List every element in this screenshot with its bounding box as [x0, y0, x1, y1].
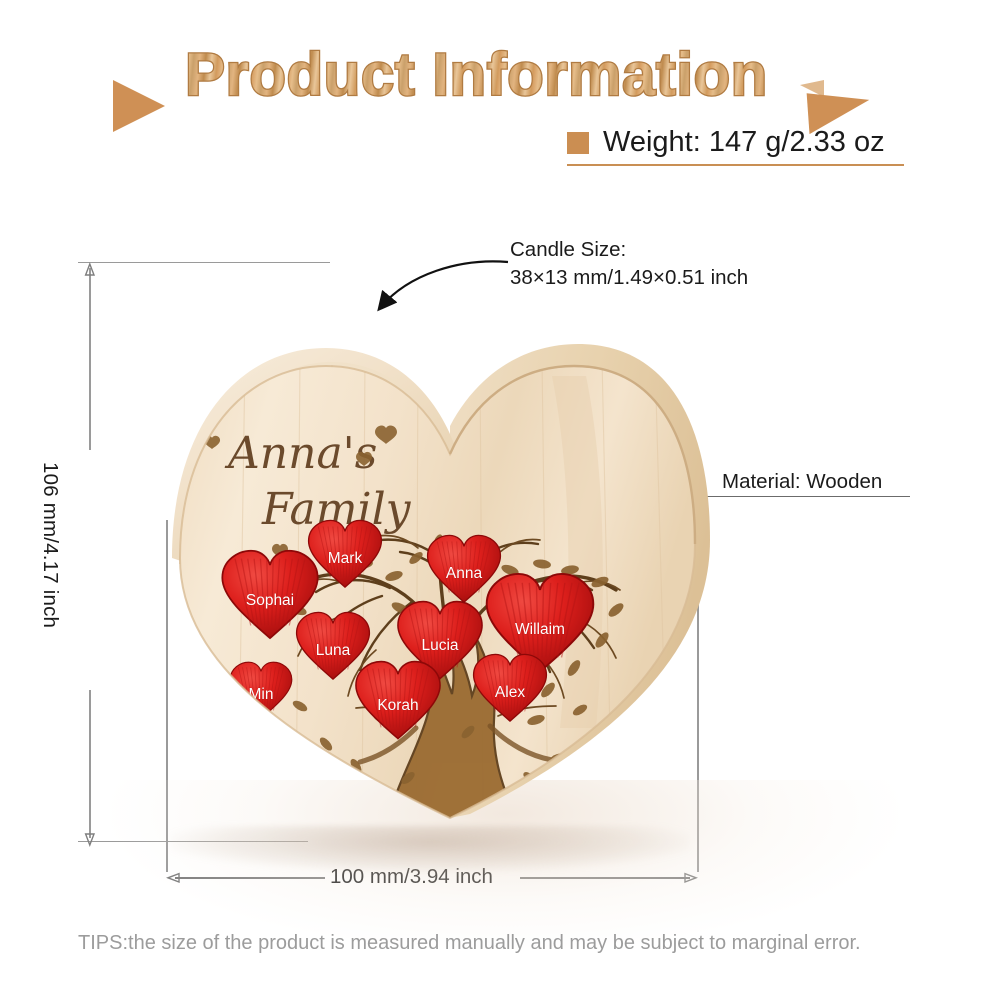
name-heart-label: Alex [495, 684, 525, 701]
name-heart-label: Min [249, 686, 274, 703]
name-heart-label: Willaim [515, 621, 565, 638]
height-dimension-label: 106 mm/4.17 inch [38, 462, 62, 628]
page-title: Product Information [185, 36, 768, 114]
weight-label: Weight: 147 g/2.33 oz [603, 126, 885, 159]
name-heart-label: Anna [446, 565, 483, 582]
wooden-heart-candle-holder: Anna's Family [150, 258, 720, 873]
engraved-title-line1: Anna's [224, 428, 377, 479]
product-shadow [170, 826, 690, 872]
name-heart-label: Luna [316, 642, 351, 659]
height-dimension-arrowheads [82, 262, 98, 847]
material-callout: Material: Wooden [722, 468, 882, 496]
name-heart-label: Korah [377, 697, 418, 714]
infographic-canvas: Product Information Product Information … [0, 0, 1000, 1000]
product-photo: Anna's Family [150, 258, 720, 868]
name-heart-label: Lucia [421, 637, 458, 654]
name-heart-label: Sophai [246, 592, 294, 609]
name-heart-label: Mark [328, 550, 363, 567]
header-banner: Product Information Product Information [0, 36, 1000, 114]
tips-note: TIPS:the size of the product is measured… [78, 932, 938, 955]
weight-spec: Weight: 147 g/2.33 oz [567, 126, 885, 159]
weight-underline [567, 164, 904, 166]
triangle-right-icon [113, 80, 165, 132]
square-bullet-icon [567, 132, 589, 154]
